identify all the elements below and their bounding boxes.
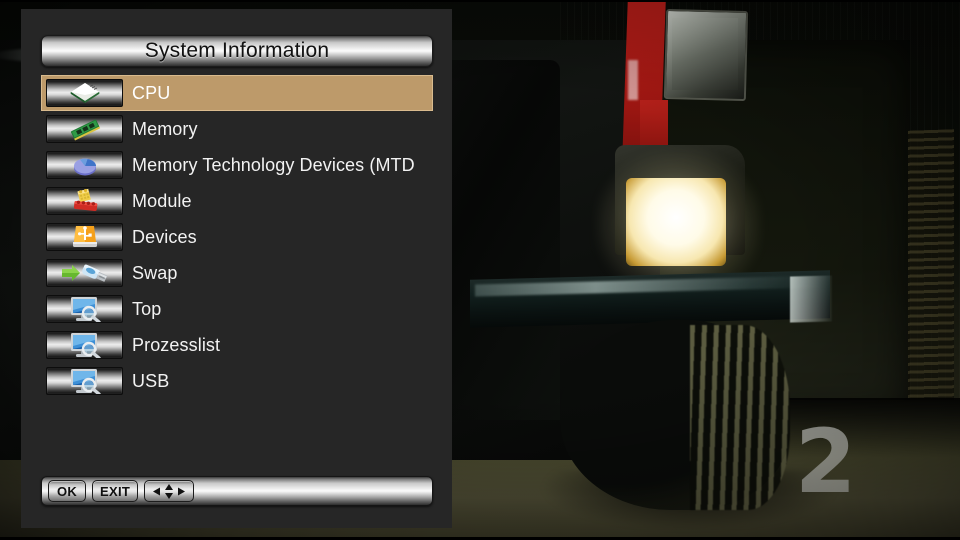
menu-label-devices: Devices xyxy=(132,227,197,248)
ok-button[interactable]: OK xyxy=(48,480,86,502)
monitor-search-icon xyxy=(46,367,123,395)
menu-label-usb: USB xyxy=(132,371,169,392)
cpu-chip-icon xyxy=(46,79,123,107)
menu-item-top[interactable]: Top xyxy=(41,291,433,327)
menu-item-devices[interactable]: Devices xyxy=(41,219,433,255)
page-title: System Information xyxy=(145,39,330,63)
letterbox-top xyxy=(0,0,960,2)
menu-item-module[interactable]: Module xyxy=(41,183,433,219)
system-information-menu[interactable]: CPU Memory xyxy=(41,75,433,455)
dpad-arrows-icon xyxy=(152,484,186,499)
menu-label-swap: Swap xyxy=(132,263,177,284)
menu-item-swap[interactable]: Swap xyxy=(41,255,433,291)
menu-item-prozesslist[interactable]: Prozesslist xyxy=(41,327,433,363)
memory-ram-icon xyxy=(46,115,123,143)
usb-drive-icon xyxy=(46,223,123,251)
menu-label-module: Module xyxy=(132,191,192,212)
system-information-panel: System Information CPU xyxy=(21,9,452,528)
pie-chart-icon xyxy=(46,151,123,179)
panel-title-bar: System Information xyxy=(41,35,433,67)
exit-button[interactable]: EXIT xyxy=(92,480,138,502)
menu-item-cpu[interactable]: CPU xyxy=(41,75,433,111)
monitor-search-icon xyxy=(46,331,123,359)
menu-label-top: Top xyxy=(132,299,161,320)
menu-label-mtd: Memory Technology Devices (MTD xyxy=(132,155,415,176)
menu-label-prozesslist: Prozesslist xyxy=(132,335,220,356)
menu-item-mtd[interactable]: Memory Technology Devices (MTD xyxy=(41,147,433,183)
panel-button-bar: OK EXIT xyxy=(41,476,433,506)
dpad-navigation-button[interactable] xyxy=(144,480,194,502)
lego-bricks-icon xyxy=(46,187,123,215)
menu-label-memory: Memory xyxy=(132,119,198,140)
menu-item-usb[interactable]: USB xyxy=(41,363,433,399)
menu-item-memory[interactable]: Memory xyxy=(41,111,433,147)
monitor-search-icon xyxy=(46,295,123,323)
menu-label-cpu: CPU xyxy=(132,83,170,104)
swap-usb-stick-icon xyxy=(46,259,123,287)
